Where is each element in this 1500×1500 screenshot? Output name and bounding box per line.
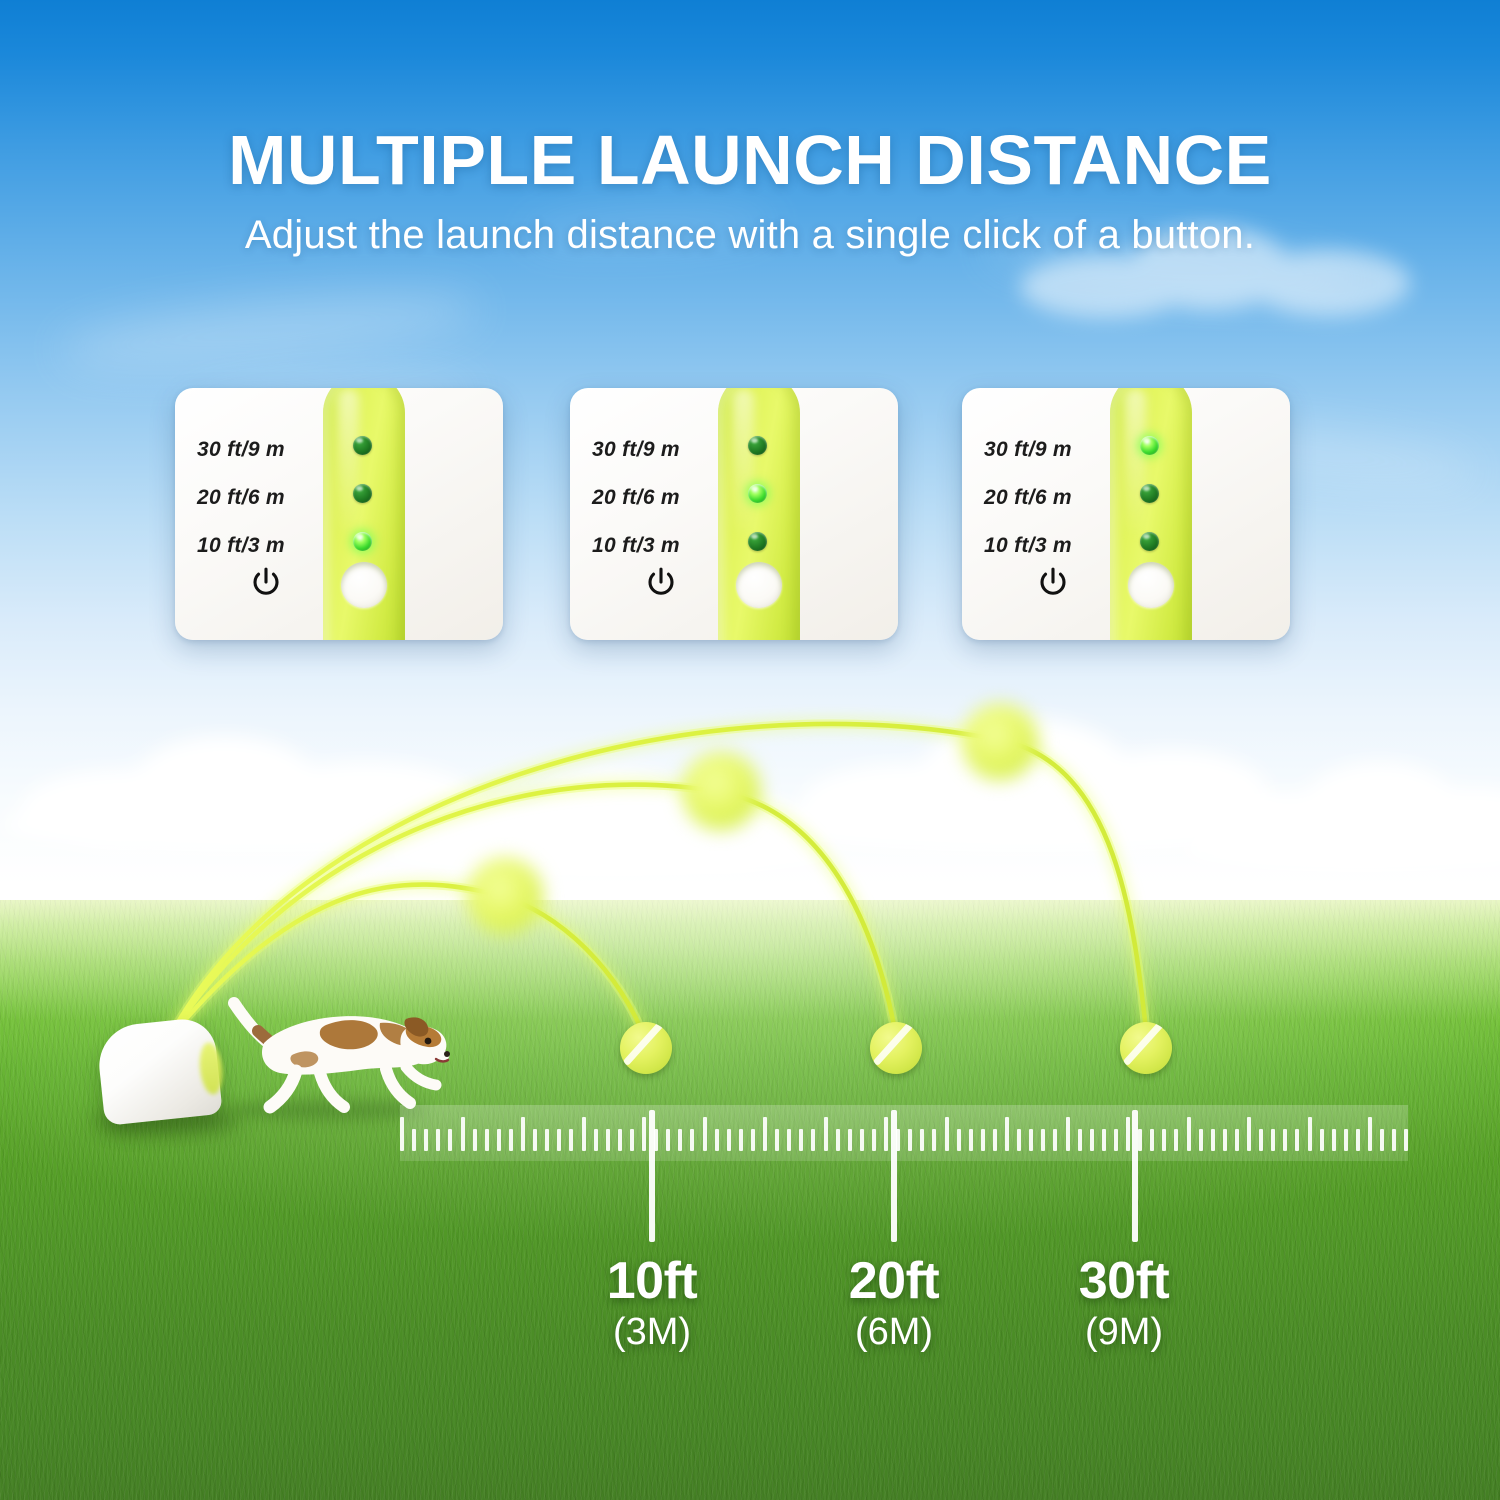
ruler-tick-major (1308, 1117, 1312, 1151)
ruler-tick-minor (981, 1129, 985, 1151)
ruler-tick-major (582, 1117, 586, 1151)
trajectory-scene: 10ft (3M) 20ft (6M) 30ft (9M) (0, 0, 1500, 1500)
ruler-tick-major (521, 1117, 525, 1151)
ruler-tick-minor (1271, 1129, 1275, 1151)
ruler-tick-minor (1199, 1129, 1203, 1151)
ruler-tick-minor (739, 1129, 743, 1151)
ruler-tick-major (1005, 1117, 1009, 1151)
ruler-tick-minor (509, 1129, 513, 1151)
ruler-tick-minor (1029, 1129, 1033, 1151)
ruler-tick-minor (497, 1129, 501, 1151)
ruler-tick-minor (1223, 1129, 1227, 1151)
ruler-tick-major (945, 1117, 949, 1151)
ruler-tick-minor (836, 1129, 840, 1151)
ruler-tick-minor (594, 1129, 598, 1151)
ruler-tick-minor (618, 1129, 622, 1151)
ruler-tick-major (461, 1117, 465, 1151)
ruler-tick-minor (1162, 1129, 1166, 1151)
ruler-tick-minor (557, 1129, 561, 1151)
ruler-tick-minor (1041, 1129, 1045, 1151)
ruler-tick-minor (860, 1129, 864, 1151)
ruler-tick-major (1368, 1117, 1372, 1151)
distance-feet-20: 20ft (784, 1252, 1004, 1310)
ruler-tick-minor (1174, 1129, 1178, 1151)
ruler-tick-minor (969, 1129, 973, 1151)
ruler-tick-minor (775, 1129, 779, 1151)
distance-feet-30: 30ft (1014, 1252, 1234, 1310)
ruler-tick-minor (1053, 1129, 1057, 1151)
distance-meters-10: (3M) (542, 1310, 762, 1354)
ruler-tick-minor (1404, 1129, 1408, 1151)
ruler-tick-minor (678, 1129, 682, 1151)
ruler-tick-minor (690, 1129, 694, 1151)
ruler-tick-minor (957, 1129, 961, 1151)
ruler-tick-minor (1078, 1129, 1082, 1151)
ruler-tick-minor (1356, 1129, 1360, 1151)
ruler-tick-minor (799, 1129, 803, 1151)
marker-line-10ft (649, 1110, 655, 1242)
ruler-tick-minor (533, 1129, 537, 1151)
ruler-tick-minor (1090, 1129, 1094, 1151)
ruler-tick-minor (751, 1129, 755, 1151)
ruler-tick-major (703, 1117, 707, 1151)
ruler-tick-minor (715, 1129, 719, 1151)
ruler-tick-minor (1211, 1129, 1215, 1151)
ruler-tick-minor (569, 1129, 573, 1151)
ruler-tick-minor (412, 1129, 416, 1151)
ruler-tick-minor (545, 1129, 549, 1151)
distance-meters-20: (6M) (784, 1310, 1004, 1354)
distance-feet-10: 10ft (542, 1252, 762, 1310)
ruler-tick-minor (485, 1129, 489, 1151)
ruler-tick-minor (920, 1129, 924, 1151)
ruler-tick-major (1126, 1117, 1130, 1151)
ruler-tick-minor (448, 1129, 452, 1151)
ruler-tick-minor (1392, 1129, 1396, 1151)
ruler-tick-minor (811, 1129, 815, 1151)
distance-marker-30ft: 30ft (9M) (1014, 1252, 1234, 1354)
ruler-tick-minor (1344, 1129, 1348, 1151)
ruler-tick-minor (473, 1129, 477, 1151)
ruler-tick-major (884, 1117, 888, 1151)
ruler-tick-minor (630, 1129, 634, 1151)
ruler-tick-minor (1235, 1129, 1239, 1151)
ruler-tick-minor (1332, 1129, 1336, 1151)
ruler-tick-minor (787, 1129, 791, 1151)
infographic-stage: MULTIPLE LAUNCH DISTANCE Adjust the laun… (0, 0, 1500, 1500)
ruler-tick-minor (1320, 1129, 1324, 1151)
ruler-tick-minor (436, 1129, 440, 1151)
tennis-ball-20ft (870, 1022, 922, 1074)
ruler-tick-minor (993, 1129, 997, 1151)
distance-marker-10ft: 10ft (3M) (542, 1252, 762, 1354)
ruler-tick-minor (1017, 1129, 1021, 1151)
ruler-tick-major (1066, 1117, 1070, 1151)
ball-in-motion-20ft (682, 752, 760, 830)
ruler-tick-major (1187, 1117, 1191, 1151)
ball-in-motion-10ft (467, 858, 543, 934)
ruler-tick-major (1247, 1117, 1251, 1151)
ruler-tick-minor (424, 1129, 428, 1151)
ball-in-motion-30ft (962, 704, 1038, 780)
marker-line-30ft (1132, 1110, 1138, 1242)
ruler-tick-minor (1380, 1129, 1384, 1151)
ruler-tick-minor (1259, 1129, 1263, 1151)
ruler-tick-major (763, 1117, 767, 1151)
ruler-tick-major (400, 1117, 404, 1151)
ruler-tick-minor (848, 1129, 852, 1151)
ruler-tick-minor (1295, 1129, 1299, 1151)
ruler-tick-minor (1114, 1129, 1118, 1151)
running-dog (200, 985, 450, 1120)
distance-marker-20ft: 20ft (6M) (784, 1252, 1004, 1354)
tennis-ball-10ft (620, 1022, 672, 1074)
ruler-tick-major (824, 1117, 828, 1151)
ruler-tick-minor (1150, 1129, 1154, 1151)
ruler-tick-minor (1283, 1129, 1287, 1151)
marker-line-20ft (891, 1110, 897, 1242)
ruler-tick-minor (666, 1129, 670, 1151)
ruler-tick-minor (1138, 1129, 1142, 1151)
ruler-tick-minor (932, 1129, 936, 1151)
tennis-ball-30ft (1120, 1022, 1172, 1074)
distance-meters-30: (9M) (1014, 1310, 1234, 1354)
ruler-tick-major (642, 1117, 646, 1151)
ruler-tick-minor (1102, 1129, 1106, 1151)
measuring-tape-ruler (400, 1105, 1408, 1161)
ruler-tick-minor (606, 1129, 610, 1151)
ruler-tick-minor (908, 1129, 912, 1151)
ruler-tick-minor (872, 1129, 876, 1151)
ruler-tick-minor (727, 1129, 731, 1151)
